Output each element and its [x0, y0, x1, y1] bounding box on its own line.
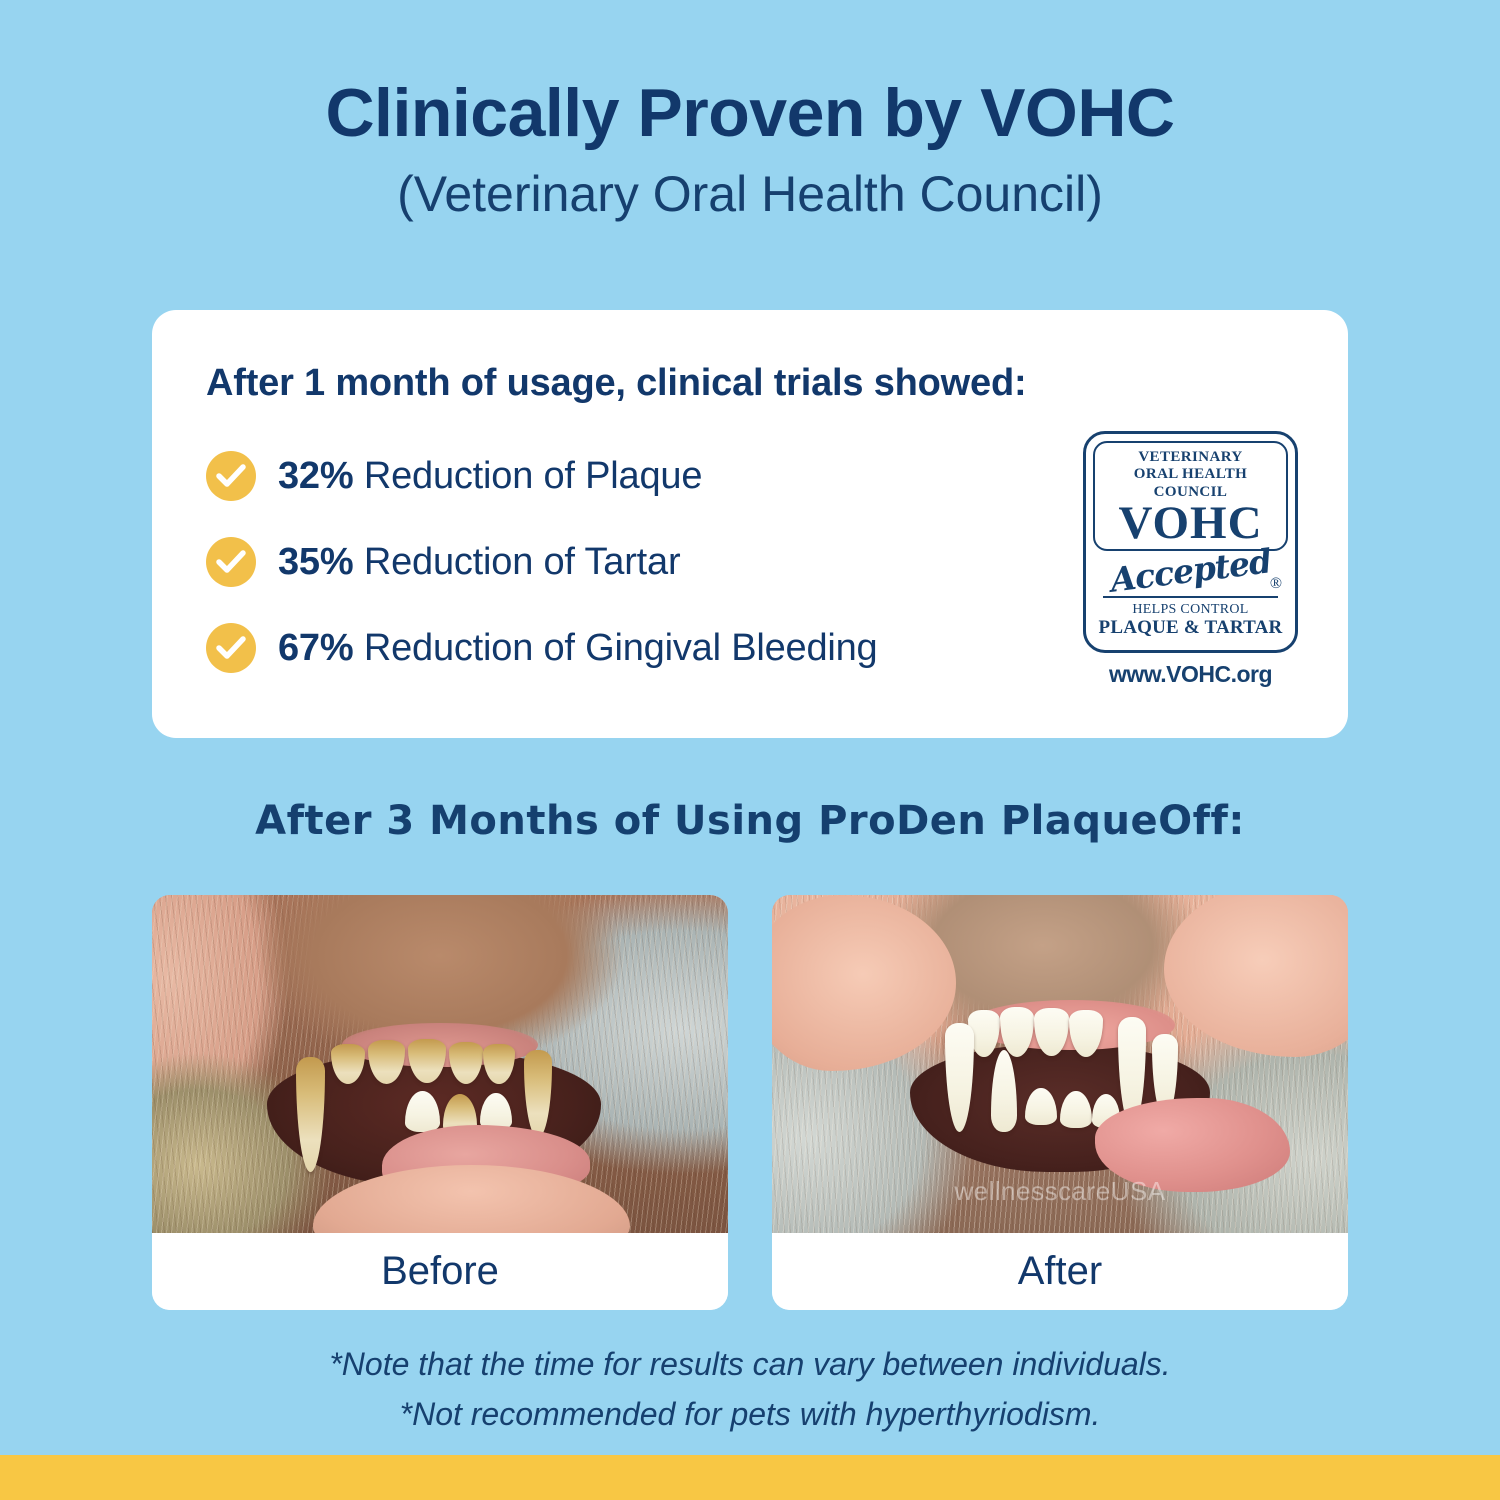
footnote-1: *Note that the time for results can vary…	[0, 1340, 1500, 1390]
seal-accepted-row: Accepted ®	[1093, 549, 1288, 595]
seal-line-2: ORAL HEALTH COUNCIL	[1099, 466, 1282, 501]
comparison-heading: After 3 Months of Using ProDen PlaqueOff…	[0, 798, 1500, 844]
bottom-accent-bar	[0, 1455, 1500, 1500]
check-icon	[206, 623, 256, 673]
result-text: 67% Reduction of Gingival Bleeding	[278, 627, 878, 670]
seal-line-3: HELPS CONTROL	[1093, 602, 1288, 618]
seal-outer-border: VETERINARY ORAL HEALTH COUNCIL VOHC Acce…	[1083, 431, 1298, 653]
check-icon	[206, 537, 256, 587]
after-panel: wellnesscareUSA After	[772, 895, 1348, 1310]
result-text: 35% Reduction of Tartar	[278, 541, 680, 584]
check-icon	[206, 451, 256, 501]
clinical-results-card: After 1 month of usage, clinical trials …	[152, 310, 1348, 738]
result-text: 32% Reduction of Plaque	[278, 455, 702, 498]
seal-line-1: VETERINARY	[1099, 449, 1282, 466]
result-value: 32%	[278, 455, 353, 497]
result-label: Reduction of Plaque	[364, 455, 702, 497]
result-value: 67%	[278, 627, 353, 669]
results-list: 32% Reduction of Plaque 35% Reduction of…	[206, 423, 1083, 691]
result-label: Reduction of Tartar	[364, 541, 681, 583]
clinical-results-heading: After 1 month of usage, clinical trials …	[206, 362, 1308, 405]
page-subtitle: (Veterinary Oral Health Council)	[0, 167, 1500, 222]
registered-trademark-icon: ®	[1270, 575, 1282, 593]
after-photo: wellnesscareUSA	[772, 895, 1348, 1233]
before-photo	[152, 895, 728, 1233]
page-title: Clinically Proven by VOHC	[0, 78, 1500, 149]
result-label: Reduction of Gingival Bleeding	[364, 627, 878, 669]
clinical-results-body: 32% Reduction of Plaque 35% Reduction of…	[206, 423, 1308, 691]
seal-accepted-script: Accepted	[1108, 541, 1273, 599]
photo-watermark: wellnesscareUSA	[954, 1176, 1165, 1207]
seal-line-4: PLAQUE & TARTAR	[1093, 618, 1288, 643]
footnotes: *Note that the time for results can vary…	[0, 1340, 1500, 1439]
seal-acronym: VOHC	[1099, 500, 1282, 547]
list-item: 67% Reduction of Gingival Bleeding	[206, 605, 1083, 691]
seal-url: www.VOHC.org	[1083, 661, 1298, 688]
before-panel: Before	[152, 895, 728, 1310]
page-header: Clinically Proven by VOHC (Veterinary Or…	[0, 0, 1500, 222]
list-item: 35% Reduction of Tartar	[206, 519, 1083, 605]
after-label: After	[772, 1233, 1348, 1310]
before-after-panels: Before wellnesscareUSA After	[152, 895, 1348, 1310]
footnote-2: *Not recommended for pets with hyperthyr…	[0, 1390, 1500, 1440]
list-item: 32% Reduction of Plaque	[206, 433, 1083, 519]
seal-inner-border: VETERINARY ORAL HEALTH COUNCIL VOHC	[1093, 441, 1288, 551]
vohc-accepted-seal: VETERINARY ORAL HEALTH COUNCIL VOHC Acce…	[1083, 431, 1298, 688]
result-value: 35%	[278, 541, 353, 583]
before-label: Before	[152, 1233, 728, 1310]
